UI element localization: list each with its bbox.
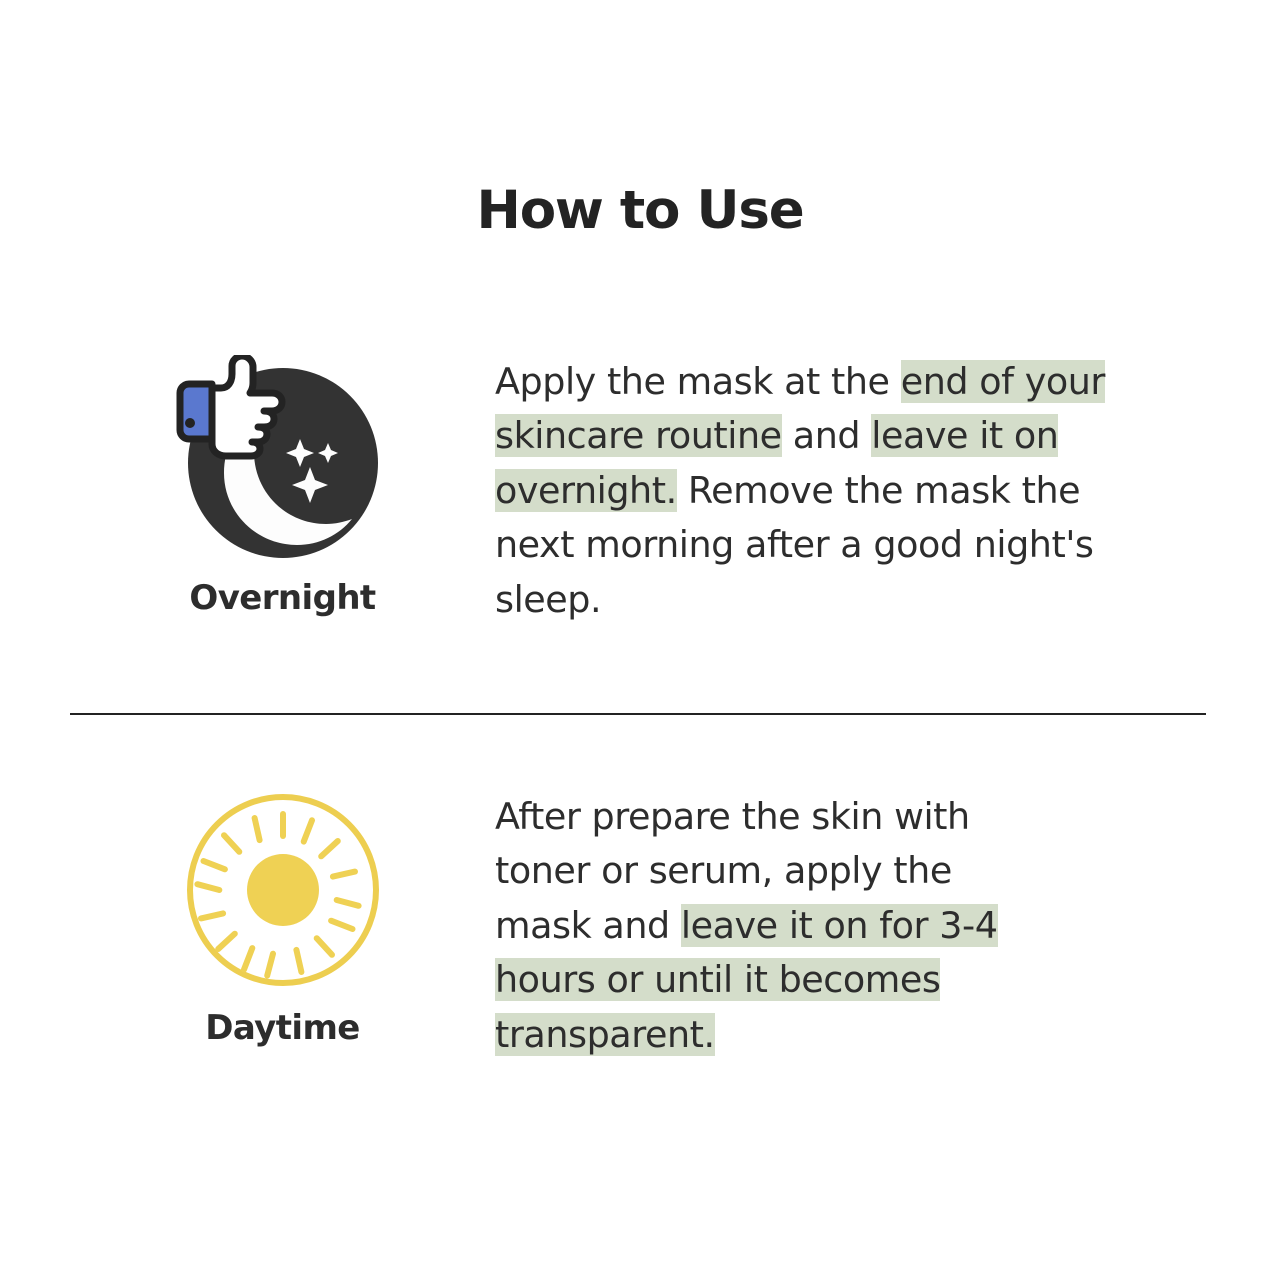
overnight-label: Overnight	[150, 578, 415, 618]
daytime-label: Daytime	[150, 1008, 415, 1048]
section-divider	[70, 713, 1206, 715]
daytime-paragraph: After prepare the skin with toner or ser…	[495, 790, 1050, 1062]
overnight-text-part-1: Apply the mask at the	[495, 360, 901, 403]
page-title: How to Use	[0, 182, 1280, 240]
overnight-paragraph: Apply the mask at the end of your skinca…	[495, 355, 1120, 627]
overnight-icon-column: Overnight	[150, 355, 415, 618]
how-to-use-page: How to Use	[0, 0, 1280, 1280]
sun-circle-icon	[183, 790, 383, 990]
moon-night-circle-svg	[168, 355, 398, 560]
daytime-icon-column: Daytime	[150, 790, 415, 1048]
overnight-text-part-2: and	[782, 414, 872, 457]
sun-core-icon	[247, 854, 319, 926]
moon-night-circle-icon	[168, 355, 398, 560]
sun-circle-svg	[183, 790, 383, 990]
